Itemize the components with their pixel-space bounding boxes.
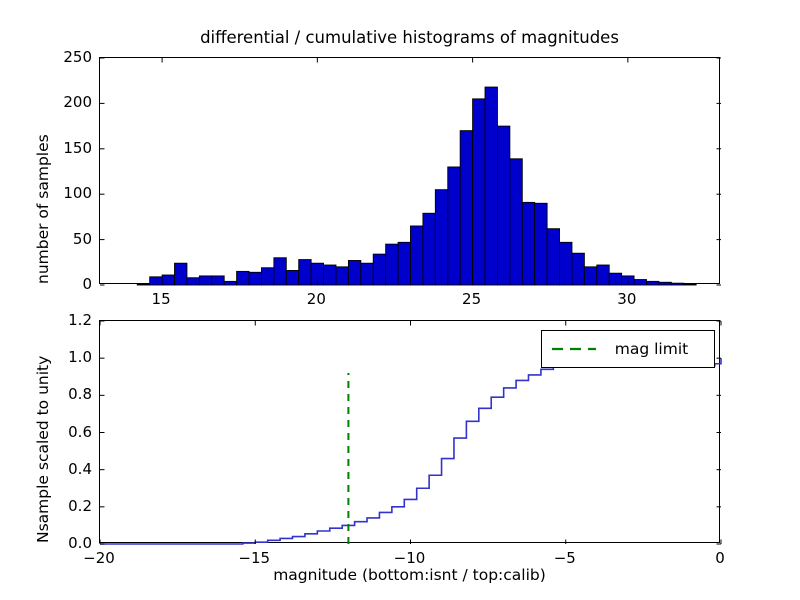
histogram-bar — [497, 126, 509, 285]
bottom-axis-ytick-label: 1.2 — [34, 311, 92, 329]
histogram-bar — [373, 254, 385, 285]
histogram-bar — [249, 272, 261, 285]
histogram-bar — [286, 270, 298, 285]
differential-histogram-plot-area — [100, 58, 721, 285]
x-axis-label: magnitude (bottom:isnt / top:calib) — [99, 566, 720, 584]
histogram-bar — [485, 87, 497, 285]
histogram-bar — [460, 131, 472, 285]
histogram-bar — [473, 99, 485, 285]
histogram-bar — [572, 253, 584, 285]
histogram-bar — [560, 242, 572, 285]
histogram-bar — [187, 278, 199, 285]
histogram-bar — [212, 276, 224, 285]
histogram-bar — [361, 263, 373, 285]
legend[interactable]: mag limit — [541, 330, 715, 368]
histogram-bar — [224, 281, 236, 285]
histogram-bar — [411, 226, 423, 285]
top-axis-ytick-label: 200 — [34, 93, 92, 111]
histogram-bar — [237, 271, 249, 285]
histogram-bar — [671, 283, 683, 285]
legend-label-mag-limit: mag limit — [597, 340, 714, 358]
top-axis-xtick-label: 25 — [442, 290, 502, 308]
top-axis-xtick-label: 15 — [131, 290, 191, 308]
figure-canvas: differential / cumulative histograms of … — [0, 0, 800, 600]
histogram-bar — [299, 260, 311, 285]
top-axis-ylabel: number of samples — [34, 134, 52, 284]
histogram-bar — [659, 282, 671, 285]
bottom-axis-xtick-label: −15 — [224, 549, 284, 567]
histogram-bar — [423, 213, 435, 285]
histogram-bar — [448, 167, 460, 285]
histogram-bar — [386, 244, 398, 285]
histogram-bar — [547, 229, 559, 285]
histogram-bar — [522, 202, 534, 285]
histogram-bar — [584, 267, 596, 285]
bottom-axis-xtick-label: −20 — [69, 549, 129, 567]
histogram-bar — [597, 265, 609, 285]
histogram-bar — [398, 242, 410, 285]
top-axis-xtick-label: 30 — [597, 290, 657, 308]
histogram-bar — [609, 273, 621, 285]
histogram-bar — [175, 263, 187, 285]
top-axis-xtick-label: 20 — [286, 290, 346, 308]
histogram-bar — [684, 284, 696, 285]
histogram-bar — [261, 268, 273, 285]
bottom-axis-ylabel: Nsample scaled to unity — [34, 356, 52, 543]
bottom-axis-xtick-label: −5 — [535, 549, 595, 567]
histogram-bar — [535, 203, 547, 285]
histogram-bar — [336, 267, 348, 285]
page-title: differential / cumulative histograms of … — [99, 28, 720, 47]
histogram-bar — [510, 159, 522, 285]
histogram-bar — [348, 260, 360, 285]
mag-limit-line-icon — [551, 343, 597, 355]
histogram-bar — [435, 190, 447, 285]
bottom-axis-xtick-label: 0 — [690, 549, 750, 567]
histogram-bar — [162, 275, 174, 285]
histogram-bar — [634, 280, 646, 285]
top-axis-ytick-label: 250 — [34, 48, 92, 66]
histogram-bar — [324, 265, 336, 285]
histogram-bar — [137, 284, 149, 285]
cumulative-curve — [100, 358, 721, 544]
histogram-bar — [199, 276, 211, 285]
histogram-bar — [274, 258, 286, 285]
bottom-axis-xtick-label: −10 — [380, 549, 440, 567]
histogram-bar — [646, 281, 658, 285]
differential-histogram-axes — [99, 57, 720, 284]
histogram-bar — [150, 277, 162, 285]
